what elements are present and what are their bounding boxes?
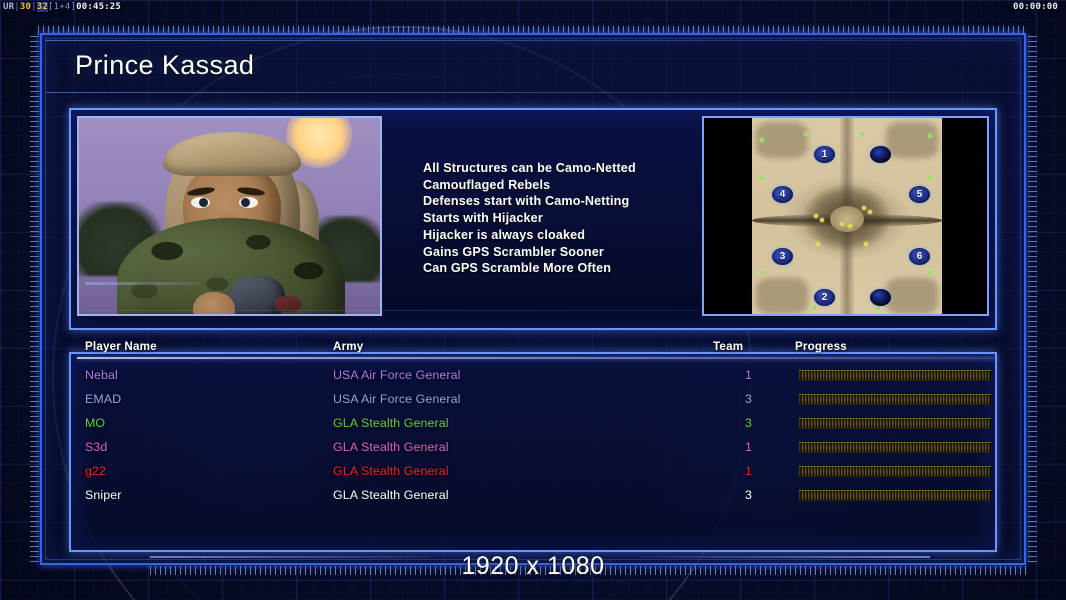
map-start-position: 6: [909, 248, 930, 265]
hud-performance-readout: UR|30|32[1+4]00:45:25: [3, 2, 121, 12]
portrait-hand: [193, 292, 235, 316]
table-row[interactable]: g22GLA Stealth General1: [77, 459, 997, 483]
portrait-pupil-left: [199, 198, 208, 207]
hud-clock: 00:45:25: [76, 2, 121, 12]
table-row[interactable]: S3dGLA Stealth General1: [77, 435, 997, 459]
player-team: 3: [745, 488, 752, 502]
player-progress: [799, 490, 991, 501]
player-table-header: Player Name Army Team Progress: [77, 340, 993, 356]
table-row[interactable]: NebalUSA Air Force General1: [77, 363, 997, 387]
player-army: USA Air Force General: [333, 368, 460, 382]
ruler-left: [30, 36, 39, 566]
map-center-island: [830, 206, 864, 232]
general-portrait: [77, 116, 382, 316]
hud-num-2: 32: [37, 2, 48, 12]
map-resource-marker: [928, 134, 932, 138]
hud-timer: 00:00:00: [1013, 2, 1058, 12]
map-resource-marker: [848, 224, 852, 228]
player-army: GLA Stealth General: [333, 440, 449, 454]
map-terrain-blob: [886, 122, 938, 158]
table-row[interactable]: EMADUSA Air Force General3: [77, 387, 997, 411]
title-bar: Prince Kassad: [44, 37, 1022, 93]
map-terrain-blob: [756, 278, 808, 314]
ability-item: Starts with Hijacker: [423, 210, 723, 227]
player-army: GLA Stealth General: [333, 464, 449, 478]
ability-list: All Structures can be Camo-Netted Camouf…: [423, 160, 723, 277]
map-start-position: 5: [909, 186, 930, 203]
player-army: USA Air Force General: [333, 392, 460, 406]
column-header-army: Army: [333, 340, 363, 353]
map-resource-marker: [820, 218, 824, 222]
player-team: 1: [745, 464, 752, 478]
player-name: S3d: [85, 440, 107, 454]
column-header-team: Team: [713, 340, 743, 353]
general-info-panel: All Structures can be Camo-Netted Camouf…: [69, 108, 997, 330]
player-progress: [799, 466, 991, 477]
ability-item: Hijacker is always cloaked: [423, 227, 723, 244]
ability-item: All Structures can be Camo-Netted: [423, 160, 723, 177]
map-preview: 145362: [702, 116, 989, 316]
map-resource-marker: [812, 306, 816, 310]
hud-fps-label: UR: [3, 2, 14, 12]
player-name: Sniper: [85, 488, 121, 502]
table-header-divider: [77, 357, 997, 359]
map-start-position-empty: [870, 289, 891, 306]
map-start-position: 3: [772, 248, 793, 265]
progress-bar-fill: [799, 418, 991, 429]
resolution-label: 1920 x 1080: [0, 552, 1066, 581]
player-progress: [799, 418, 991, 429]
player-team: 3: [745, 392, 752, 406]
player-team: 3: [745, 416, 752, 430]
ability-item: Defenses start with Camo-Netting: [423, 193, 723, 210]
map-resource-marker: [860, 132, 864, 136]
column-header-player-name: Player Name: [85, 340, 157, 353]
player-name: g22: [85, 464, 106, 478]
map-resource-marker: [840, 222, 844, 226]
map-resource-marker: [804, 132, 808, 136]
ability-item: Camouflaged Rebels: [423, 177, 723, 194]
map-resource-marker: [862, 206, 866, 210]
progress-bar-fill: [799, 490, 991, 501]
loading-screen: UR|30|32[1+4]00:45:25 00:00:00 Prince Ka…: [0, 0, 1066, 600]
map-terrain-blob: [886, 278, 938, 314]
ability-item: Gains GPS Scrambler Sooner: [423, 244, 723, 261]
player-army: GLA Stealth General: [333, 416, 449, 430]
map-resource-marker: [760, 270, 764, 274]
progress-bar-fill: [799, 394, 991, 405]
map-start-position: 2: [814, 289, 835, 306]
progress-bar-fill: [799, 442, 991, 453]
table-row[interactable]: MOGLA Stealth General3: [77, 411, 997, 435]
map-resource-marker: [864, 242, 868, 246]
progress-bar-fill: [799, 466, 991, 477]
panel-accent-left: [85, 282, 199, 285]
map-start-position-empty: [870, 146, 891, 163]
player-progress: [799, 370, 991, 381]
map-resource-marker: [928, 270, 932, 274]
player-name: MO: [85, 416, 105, 430]
progress-bar-fill: [799, 370, 991, 381]
player-progress: [799, 442, 991, 453]
hud-bracket: [1+4]: [48, 2, 76, 12]
page-title: Prince Kassad: [75, 50, 254, 81]
map-start-position: 1: [814, 146, 835, 163]
player-team: 1: [745, 440, 752, 454]
map-resource-marker: [928, 176, 932, 180]
player-army: GLA Stealth General: [333, 488, 449, 502]
portrait-pupil-right: [241, 198, 250, 207]
player-list: NebalUSA Air Force General1EMADUSA Air F…: [77, 363, 997, 507]
map-resource-marker: [876, 306, 880, 310]
column-header-progress: Progress: [795, 340, 847, 353]
map-resource-marker: [814, 214, 818, 218]
ruler-right: [1028, 36, 1037, 566]
player-name: Nebal: [85, 368, 118, 382]
map-resource-marker: [816, 242, 820, 246]
hud-num-1: 30: [20, 2, 31, 12]
ability-item: Can GPS Scramble More Often: [423, 260, 723, 277]
map-resource-marker: [868, 210, 872, 214]
player-name: EMAD: [85, 392, 121, 406]
map-resource-marker: [760, 138, 764, 142]
player-team: 1: [745, 368, 752, 382]
player-progress: [799, 394, 991, 405]
map-terrain: 145362: [752, 118, 942, 316]
map-start-position: 4: [772, 186, 793, 203]
map-resource-marker: [760, 176, 764, 180]
table-row[interactable]: SniperGLA Stealth General3: [77, 483, 997, 507]
